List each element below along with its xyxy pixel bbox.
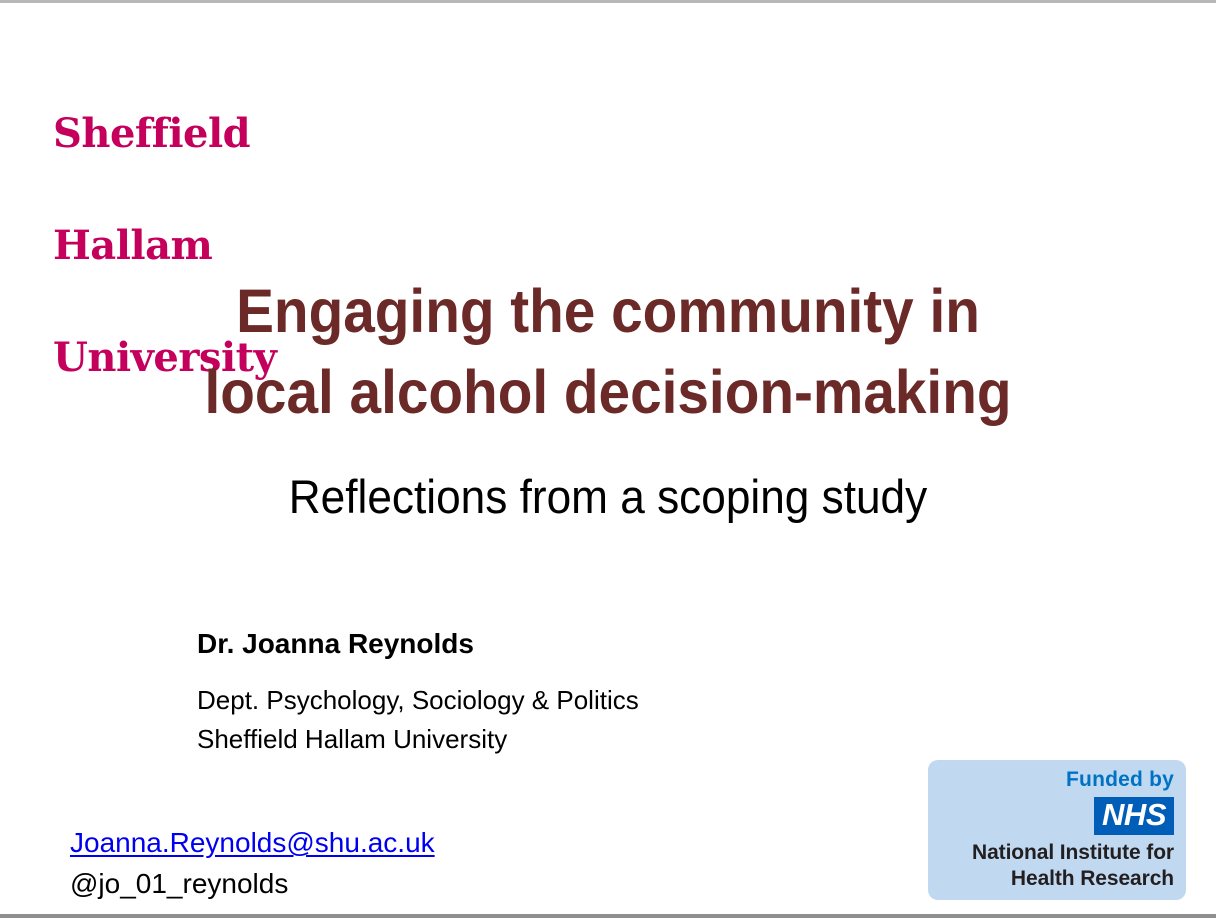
author-email-link[interactable]: Joanna.Reynolds@shu.ac.uk [70,825,435,860]
nhs-logo: NHS [1094,797,1174,835]
nhs-badge-wrapper: NHS [938,797,1174,835]
institute-name-line-1: National Institute for [938,840,1174,866]
author-affiliation-institution: Sheffield Hallam University [197,720,639,760]
author-twitter-handle: @jo_01_reynolds [70,866,435,901]
contact-block: Joanna.Reynolds@shu.ac.uk @jo_01_reynold… [70,825,435,902]
presentation-title-slide: Sheffield Hallam University Engaging the… [0,0,1216,918]
author-name: Dr. Joanna Reynolds [197,627,639,661]
title-line-2: local alcohol decision-making [43,352,1174,433]
author-block: Dr. Joanna Reynolds Dept. Psychology, So… [197,627,639,760]
nihr-funder-logo: Funded by NHS National Institute for Hea… [928,760,1186,900]
funded-by-label: Funded by [938,768,1174,791]
logo-line-2: Hallam [53,227,276,264]
logo-line-1: Sheffield [53,115,276,152]
page-title: Engaging the community in local alcohol … [0,271,1216,432]
institute-name-line-2: Health Research [938,866,1174,892]
page-subtitle: Reflections from a scoping study [36,469,1179,525]
author-affiliation-department: Dept. Psychology, Sociology & Politics [197,681,639,721]
title-line-1: Engaging the community in [43,271,1174,352]
